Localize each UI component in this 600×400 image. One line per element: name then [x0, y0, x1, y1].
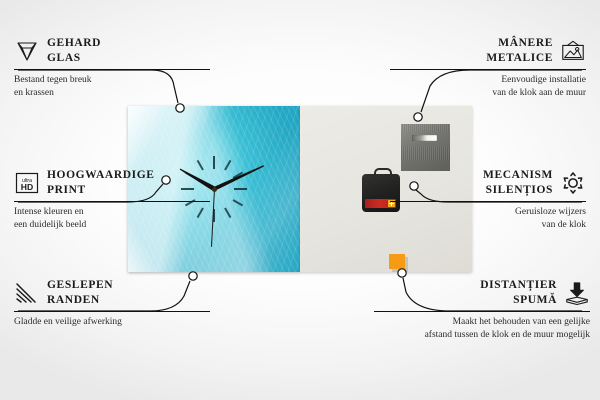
beveled-edges-icon [14, 280, 40, 306]
metal-hanger-plate [401, 124, 450, 171]
feature-hoogwaardige-print: ultra HD HOOGWAARDIGEPRINT Intense kleur… [14, 168, 210, 231]
foam-spacer [389, 254, 405, 269]
feature-title: DISTANȚIERSPUMĂ [480, 278, 557, 307]
feature-title: MECANISMSILENȚIOS [483, 168, 553, 197]
feature-mecanism-silentios: MECANISMSILENȚIOS Geruisloze wijzersvan … [390, 168, 586, 231]
feature-gehard-glas: GEHARDGLAS Bestand tegen breuken krassen [14, 36, 210, 99]
ultra-hd-icon: ultra HD [14, 170, 40, 196]
feature-divider [14, 201, 210, 202]
feature-header: GESLEPENRANDEN [14, 278, 210, 308]
feature-divider [374, 311, 590, 312]
feature-divider [14, 311, 210, 312]
feature-header: ultra HD HOOGWAARDIGEPRINT [14, 168, 210, 198]
feature-geslepen-randen: GESLEPENRANDEN Gladde en veilige afwerki… [14, 278, 210, 329]
feature-description: Eenvoudige installatievan de klok aan de… [390, 74, 586, 99]
product-infographic: GEHARDGLAS Bestand tegen breuken krassen… [0, 0, 600, 400]
feature-header: DISTANȚIERSPUMĂ [374, 278, 590, 308]
diamond-icon [14, 38, 40, 64]
feature-divider [14, 69, 210, 70]
feature-description: Bestand tegen breuken krassen [14, 74, 210, 99]
picture-frame-icon [560, 38, 586, 64]
hanger-slot [412, 135, 437, 141]
feature-manere-metalice: MÂNEREMETALICE Eenvoudige installatievan… [390, 36, 586, 99]
feature-distantier-spuma: DISTANȚIERSPUMĂ Maakt het behouden van e… [374, 278, 590, 341]
feature-header: MECANISMSILENȚIOS [390, 168, 586, 198]
feature-description: Gladde en veilige afwerking [14, 316, 210, 329]
feature-divider [390, 201, 586, 202]
feature-header: GEHARDGLAS [14, 36, 210, 66]
feature-divider [390, 69, 586, 70]
download-stack-icon [564, 280, 590, 306]
feature-description: Maakt het behouden van een gelijkeafstan… [374, 316, 590, 341]
feature-description: Geruisloze wijzersvan de klok [390, 206, 586, 231]
feature-description: Intense kleuren eneen duidelijk beeld [14, 206, 210, 231]
feature-header: MÂNEREMETALICE [390, 36, 586, 66]
clock-hand-cap [212, 187, 217, 192]
feature-title: GEHARDGLAS [47, 36, 101, 65]
feature-title: GESLEPENRANDEN [47, 278, 113, 307]
gear-icon [560, 170, 586, 196]
svg-text:HD: HD [21, 182, 33, 192]
feature-title: HOOGWAARDIGEPRINT [47, 168, 155, 197]
feature-title: MÂNEREMETALICE [486, 36, 553, 65]
